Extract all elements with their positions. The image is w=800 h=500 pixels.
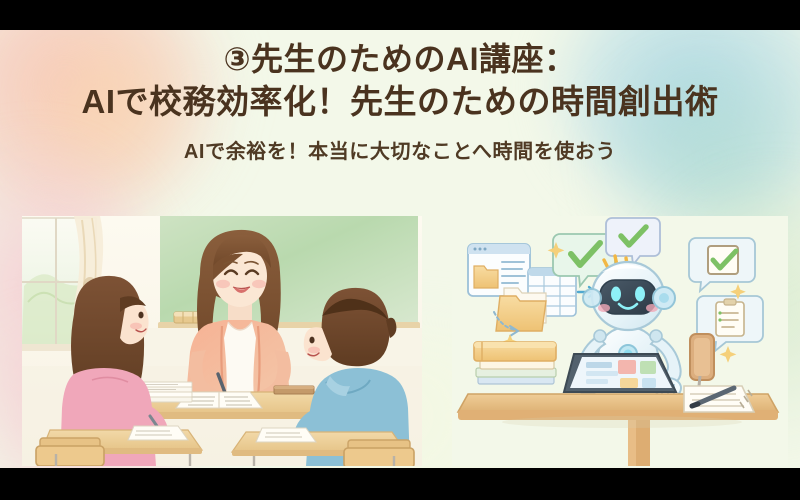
- illustration-ai-robot: [452, 216, 788, 466]
- slide-canvas: ③先生のためのAI講座： AIで校務効率化！先生のための時間創出術 AIで余裕を…: [0, 30, 800, 468]
- stack-of-books: [474, 342, 556, 384]
- headline-block: ③先生のためのAI講座： AIで校務効率化！先生のための時間創出術 AIで余裕を…: [0, 30, 800, 164]
- tablet-device: [564, 354, 676, 392]
- browser-window-card: [468, 244, 530, 296]
- letterbox-bar-top: [0, 0, 800, 30]
- page-title: ③先生のためのAI講座： AIで校務効率化！先生のための時間創出術: [0, 30, 800, 121]
- page-subtitle: AIで余裕を！本当に大切なことへ時間を使おう: [0, 121, 800, 164]
- brown-book: [274, 386, 314, 394]
- illustration-classroom: [22, 216, 422, 466]
- letterbox-bar-bottom: [0, 468, 800, 500]
- title-line-2: AIで校務効率化！先生のための時間創出術: [0, 78, 800, 121]
- slide-root: ③先生のためのAI講座： AIで校務効率化！先生のための時間創出術 AIで余裕を…: [0, 0, 800, 500]
- notebook-with-pen: [684, 386, 754, 412]
- title-line-1: ③先生のためのAI講座：: [0, 30, 800, 78]
